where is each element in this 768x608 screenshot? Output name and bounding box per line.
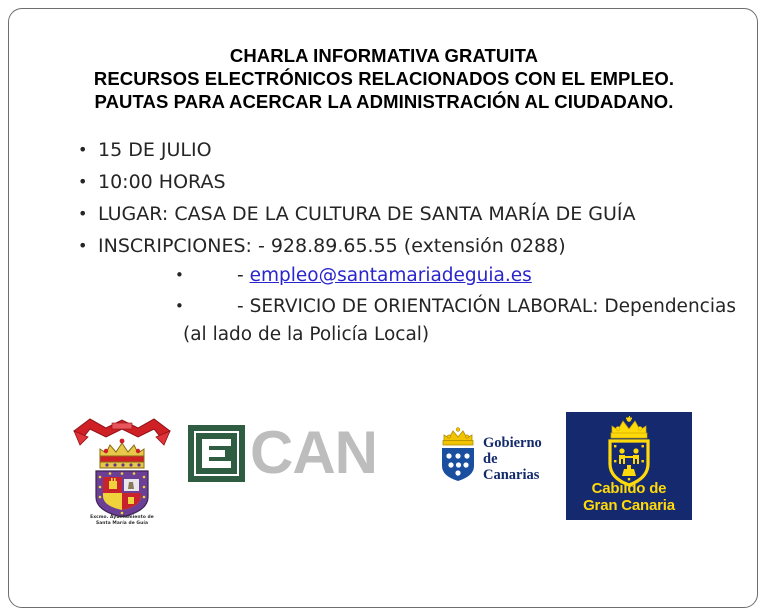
headline-line-2: RECURSOS ELECTRÓNICOS RELACIONADOS CON E… [0, 67, 768, 90]
bullet-dot-icon: • [78, 198, 98, 230]
office-text: SERVICIO DE ORIENTACIÓN LABORAL: Depende… [250, 296, 736, 317]
bullet-dot-icon: • [78, 166, 98, 198]
ayuntamiento-caption: Excmo. Ayuntamiento de Santa María de Gu… [66, 515, 178, 528]
list-item-label: INSCRIPCIONES: - 928.89.65.55 (extensión… [98, 230, 738, 262]
cabildo-line-2: Gran Canaria [566, 497, 692, 514]
coat-of-arms-icon [66, 405, 178, 517]
sub-list-item-label: - empleo@santamariadeguia.es [237, 260, 765, 291]
gobierno-canarias-wordmark: Gobierno de Canarias [483, 435, 552, 483]
sub-list-item-email: • - empleo@santamariadeguia.es [175, 260, 765, 291]
cabildo-wordmark: Cabildo de Gran Canaria [566, 480, 692, 514]
bullet-dot-icon: • [175, 260, 237, 291]
cabildo-gran-canaria-logo: Cabildo de Gran Canaria [566, 412, 692, 520]
cabildo-line-1: Cabildo de [566, 480, 692, 497]
gobierno-line-2: de Canarias [483, 451, 552, 483]
dash-prefix: - [237, 296, 244, 317]
bullet-dot-icon: • [175, 291, 237, 322]
canary-islands-shield-icon [437, 424, 479, 482]
registration-sub-list: • - empleo@santamariadeguia.es • - SERVI… [175, 260, 765, 348]
email-link[interactable]: empleo@santamariadeguia.es [250, 265, 532, 286]
sponsor-logo-strip: Excmo. Ayuntamiento de Santa María de Gu… [0, 400, 768, 550]
ecan-logo: CAN [188, 425, 403, 485]
ayuntamiento-caption-line-2: Santa María de Guía [66, 521, 178, 527]
detail-bullet-list: • 15 DE JULIO • 10:00 HORAS • LUGAR: CAS… [78, 134, 738, 262]
list-item-label: 10:00 HORAS [98, 166, 738, 198]
sub-list-item-office: • - SERVICIO DE ORIENTACIÓN LABORAL: Dep… [175, 291, 765, 322]
headline-line-1: CHARLA INFORMATIVA GRATUITA [0, 44, 768, 67]
sub-list-item-label: - SERVICIO DE ORIENTACIÓN LABORAL: Depen… [237, 291, 765, 322]
ecan-wordmark: CAN [250, 420, 377, 486]
ayuntamiento-logo: Excmo. Ayuntamiento de Santa María de Gu… [66, 405, 178, 540]
list-item-label: 15 DE JULIO [98, 134, 738, 166]
list-item-label: LUGAR: CASA DE LA CULTURA DE SANTA MARÍA… [98, 198, 738, 230]
list-item-time: • 10:00 HORAS [78, 166, 738, 198]
gobierno-line-1: Gobierno [483, 435, 552, 451]
page-title: CHARLA INFORMATIVA GRATUITA RECURSOS ELE… [0, 44, 768, 113]
gran-canaria-shield-icon [566, 412, 692, 490]
slide-canvas: CHARLA INFORMATIVA GRATUITA RECURSOS ELE… [0, 0, 768, 577]
ecan-e-mark-icon [188, 425, 245, 482]
bullet-dot-icon: • [78, 230, 98, 262]
list-item-venue: • LUGAR: CASA DE LA CULTURA DE SANTA MAR… [78, 198, 738, 230]
gobierno-canarias-logo: Gobierno de Canarias [437, 424, 552, 482]
office-address-continuation: (al lado de la Policía Local) [183, 322, 765, 348]
dash-prefix: - [237, 265, 244, 286]
list-item-registration: • INSCRIPCIONES: - 928.89.65.55 (extensi… [78, 230, 738, 262]
headline-line-3: PAUTAS PARA ACERCAR LA ADMINISTRACIÓN AL… [0, 90, 768, 113]
bullet-dot-icon: • [78, 134, 98, 166]
list-item-date: • 15 DE JULIO [78, 134, 738, 166]
